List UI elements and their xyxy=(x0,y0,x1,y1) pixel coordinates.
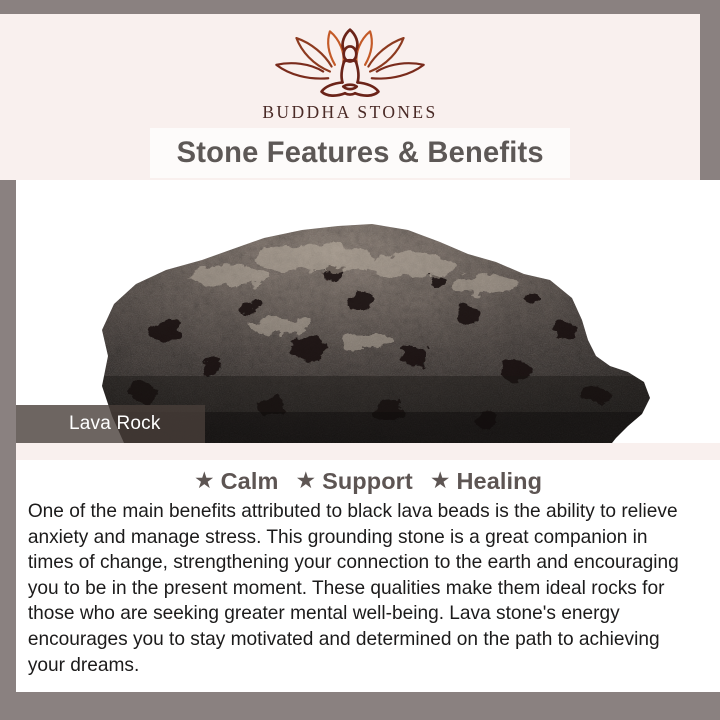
benefit-calm: ★ Calm xyxy=(194,468,279,495)
star-icon: ★ xyxy=(194,469,215,492)
content-zone: ★ Calm ★ Support ★ Healing One of the ma… xyxy=(16,460,720,692)
pink-divider-strip xyxy=(16,443,720,460)
lotus-meditation-figure-icon xyxy=(265,28,435,100)
photo-caption-chip: Lava Rock xyxy=(16,405,205,443)
benefit-label: Calm xyxy=(221,468,279,495)
star-icon: ★ xyxy=(295,469,316,492)
brand-block: BUDDHA STONES xyxy=(0,14,700,136)
benefits-row: ★ Calm ★ Support ★ Healing xyxy=(16,460,720,495)
lava-rock-photo xyxy=(16,180,720,443)
title-banner: Stone Features & Benefits xyxy=(150,128,570,178)
benefit-label: Support xyxy=(322,468,413,495)
photo-caption-label: Lava Rock xyxy=(16,413,161,435)
benefit-healing: ★ Healing xyxy=(430,468,542,495)
benefit-support: ★ Support xyxy=(295,468,412,495)
body-paragraph: One of the main benefits attributed to b… xyxy=(16,499,694,678)
photo-zone xyxy=(16,180,720,443)
benefit-label: Healing xyxy=(456,468,542,495)
page-title: Stone Features & Benefits xyxy=(176,136,543,170)
star-icon: ★ xyxy=(430,469,451,492)
brand-name: BUDDHA STONES xyxy=(262,102,437,123)
poster-root: BUDDHA STONES Stone Features & Benefits xyxy=(0,0,720,720)
